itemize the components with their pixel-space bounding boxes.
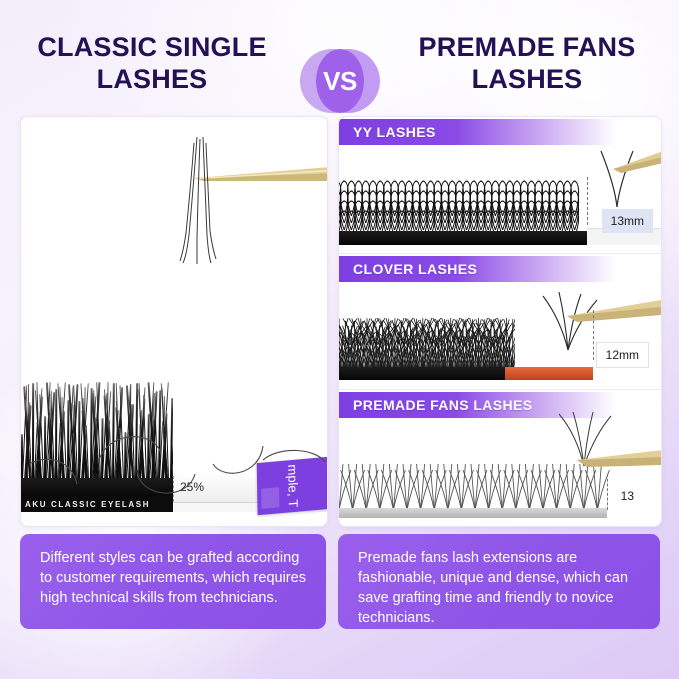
vs-label: VS	[300, 45, 380, 117]
section-title: PREMADE FANS LASHES	[339, 397, 533, 413]
classic-single-lashes-card: AKU CLASSIC EYELASH 25% mple, T	[20, 116, 328, 527]
section-yy-lashes: YY LASHES 13mm	[339, 117, 661, 253]
vs-badge: VS	[300, 45, 380, 117]
loose-lash-strands-icon	[173, 135, 221, 265]
premade-fans-lashes-card: YY LASHES 13mm CLOVER LASHES	[338, 116, 662, 527]
left-caption: Different styles can be grafted accordin…	[20, 534, 326, 629]
right-panel-title: PREMADE FANS LASHES	[385, 32, 669, 95]
measure-guide	[593, 310, 594, 360]
curved-lash-strands-icon	[27, 402, 327, 522]
section-title: CLOVER LASHES	[339, 261, 477, 277]
clover-lash-tray-icon	[339, 284, 515, 378]
gold-tweezer-icon	[577, 446, 661, 480]
measure-guide	[587, 177, 588, 225]
left-panel-title: CLASSIC SINGLE LASHES	[10, 32, 294, 95]
section-premade-fans-lashes: PREMADE FANS LASHES 13	[339, 389, 661, 526]
section-title: YY LASHES	[339, 124, 436, 140]
section-clover-lashes: CLOVER LASHES 12mm	[339, 253, 661, 390]
measure-guide	[607, 474, 608, 510]
gold-tweezer-icon	[567, 298, 661, 334]
section-banner: YY LASHES	[339, 119, 661, 145]
measurement-label: 13	[612, 484, 643, 508]
right-caption: Premade fans lash extensions are fashion…	[338, 534, 660, 629]
measurement-label: 12mm	[596, 342, 649, 368]
clover-orange-strip	[505, 367, 593, 380]
yy-tray-base	[339, 231, 587, 245]
gold-tweezer-icon	[613, 149, 661, 179]
clover-tray-base	[339, 367, 507, 380]
yy-lash-tray-icon	[339, 149, 585, 241]
comparison-infographic: CLASSIC SINGLE LASHES PREMADE FANS LASHE…	[0, 0, 679, 679]
premade-tray-base	[339, 508, 607, 518]
measurement-label: 13mm	[602, 209, 653, 233]
section-banner: CLOVER LASHES	[339, 256, 661, 282]
